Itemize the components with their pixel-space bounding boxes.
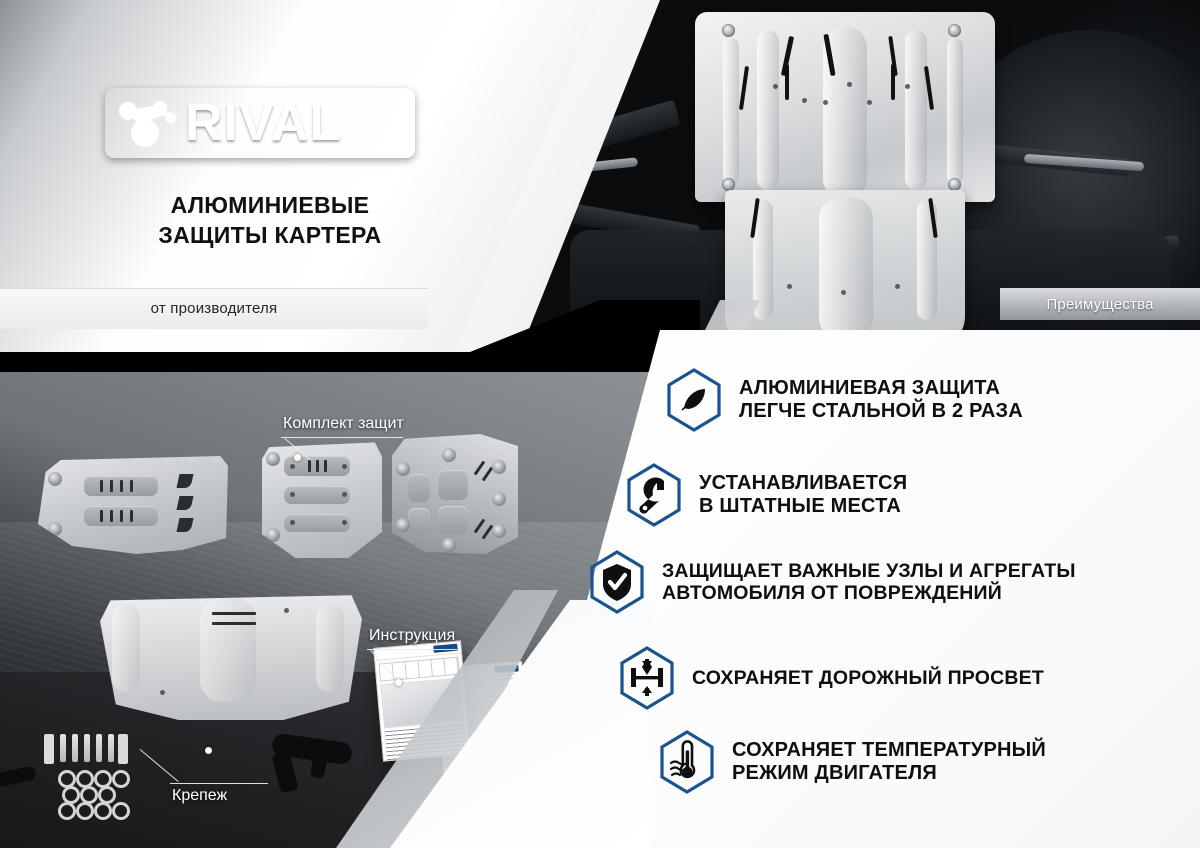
shield-check-icon: [588, 550, 646, 614]
callout-hardware-text: Крепеж: [172, 787, 227, 804]
page-subtitle-text: от производителя: [151, 300, 278, 317]
advantages-badge-label: Преимущества: [1046, 296, 1153, 313]
product-poster: Преимущества RIVAL АЛЮМИНИЕВЫЕ ЗАЩИТЫ КА…: [0, 0, 1200, 848]
callout-kit-underline: [281, 437, 403, 438]
washer: [112, 802, 130, 820]
callout-hardware-label: Крепеж: [172, 787, 227, 805]
bolt: [72, 734, 78, 762]
mounting-strip: [44, 734, 54, 764]
bolt: [60, 734, 66, 762]
skid-plate-c: [392, 434, 518, 554]
page-subtitle: от производителя: [0, 288, 428, 328]
page-title-line1: АЛЮМИНИЕВЫЕ: [105, 190, 435, 220]
ground-clearance-icon: [618, 646, 676, 710]
callout-kit-label: Комплект защит: [283, 415, 404, 433]
mounting-strip: [118, 734, 128, 764]
washer: [76, 770, 94, 788]
thermometer-icon: [658, 730, 716, 794]
feature-label: УСТАНАВЛИВАЕТСЯ В ШТАТНЫЕ МЕСТА: [699, 472, 907, 518]
feature-label: СОХРАНЯЕТ ДОРОЖНЫЙ ПРОСВЕТ: [692, 667, 1044, 689]
callout-instruction-text: Инструкция: [369, 627, 455, 644]
feature-item-protection: ЗАЩИЩАЕТ ВАЖНЫЕ УЗЛЫ И АГРЕГАТЫ АВТОМОБИ…: [588, 550, 1076, 614]
callout-hardware-underline: [170, 783, 268, 784]
washer: [76, 802, 94, 820]
advantages-badge: Преимущества: [1000, 288, 1200, 320]
callout-instruction-label: Инструкция: [369, 627, 455, 645]
features-list: АЛЮМИНИЕВАЯ ЗАЩИТА ЛЕГЧЕ СТАЛЬНОЙ В 2 РА…: [600, 358, 1200, 838]
callout-hardware-dot: [205, 747, 212, 754]
feature-item-temperature: СОХРАНЯЕТ ТЕМПЕРАТУРНЫЙ РЕЖИМ ДВИГАТЕЛЯ: [658, 730, 1046, 794]
callout-instruction-dot: [395, 679, 402, 686]
bolt: [108, 734, 114, 762]
page-title: АЛЮМИНИЕВЫЕ ЗАЩИТЫ КАРТЕРА: [105, 190, 435, 251]
feature-item-clearance: СОХРАНЯЕТ ДОРОЖНЫЙ ПРОСВЕТ: [618, 646, 1044, 710]
feature-label: ЗАЩИЩАЕТ ВАЖНЫЕ УЗЛЫ И АГРЕГАТЫ АВТОМОБИ…: [662, 560, 1076, 605]
callout-instruction-underline: [367, 649, 457, 650]
molecule-icon: [117, 95, 183, 151]
skid-plate-b: [262, 440, 382, 558]
washer: [112, 770, 130, 788]
callout-kit-dot: [294, 454, 301, 461]
washer: [94, 770, 112, 788]
feature-label: СОХРАНЯЕТ ТЕМПЕРАТУРНЫЙ РЕЖИМ ДВИГАТЕЛЯ: [732, 739, 1046, 785]
washer: [58, 770, 76, 788]
callout-kit-text: Комплект защит: [283, 415, 404, 432]
page-title-line2: ЗАЩИТЫ КАРТЕРА: [105, 220, 435, 250]
bolt: [84, 734, 90, 762]
feature-item-weight: АЛЮМИНИЕВАЯ ЗАЩИТА ЛЕГЧЕ СТАЛЬНОЙ В 2 РА…: [665, 368, 1023, 432]
brand-logo-text: RIVAL: [185, 97, 342, 149]
skid-plate-a: [38, 454, 228, 554]
brand-logo[interactable]: RIVAL: [105, 88, 415, 158]
wrench-icon: [625, 463, 683, 527]
skid-plate-lower: [725, 190, 965, 350]
skid-plate-upper: [695, 12, 995, 202]
leaf-icon: [665, 368, 723, 432]
bolt: [96, 734, 102, 762]
feature-label: АЛЮМИНИЕВАЯ ЗАЩИТА ЛЕГЧЕ СТАЛЬНОЙ В 2 РА…: [739, 377, 1023, 423]
feature-item-fitment: УСТАНАВЛИВАЕТСЯ В ШТАТНЫЕ МЕСТА: [625, 463, 907, 527]
skid-plate-d: [100, 590, 362, 720]
washer: [58, 802, 76, 820]
washer: [94, 802, 112, 820]
